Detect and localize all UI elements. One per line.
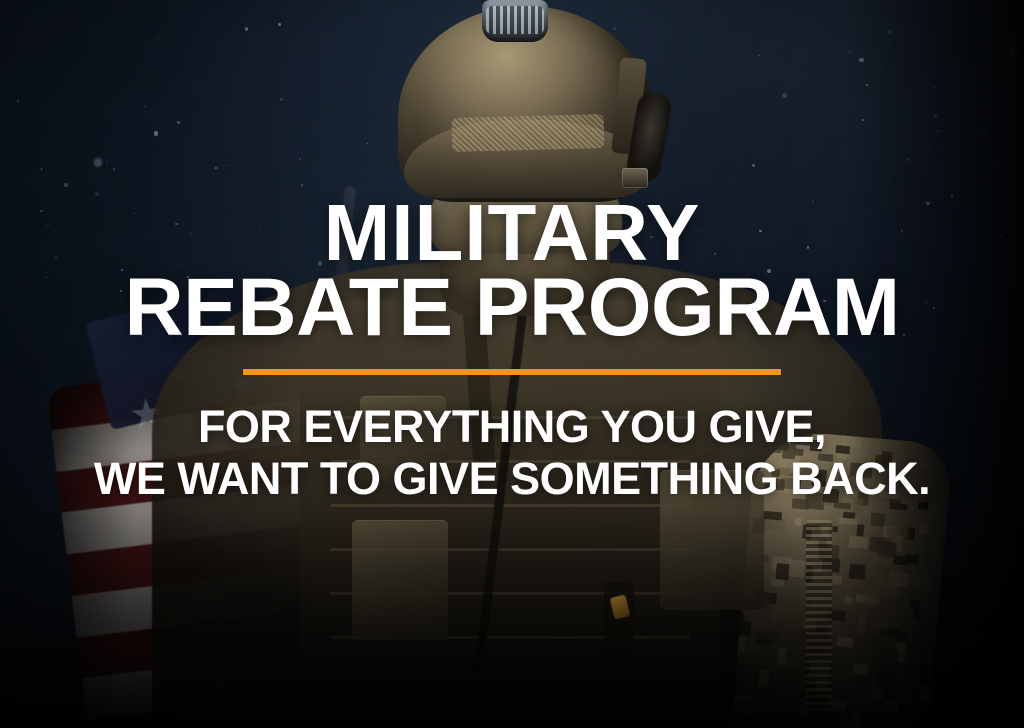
headline-line-1: MILITARY [124,196,899,270]
subheadline: FOR EVERYTHING YOU GIVE, WE WANT TO GIVE… [94,401,930,505]
orange-divider [243,369,781,375]
page-title: MILITARY REBATE PROGRAM [124,196,899,347]
subheadline-line-1: FOR EVERYTHING YOU GIVE, [94,401,930,453]
subheadline-line-2: WE WANT TO GIVE SOMETHING BACK. [94,453,930,505]
headline-line-2: REBATE PROGRAM [124,270,899,346]
banner-content: MILITARY REBATE PROGRAM FOR EVERYTHING Y… [0,0,1024,728]
military-rebate-banner: MILITARY REBATE PROGRAM FOR EVERYTHING Y… [0,0,1024,728]
